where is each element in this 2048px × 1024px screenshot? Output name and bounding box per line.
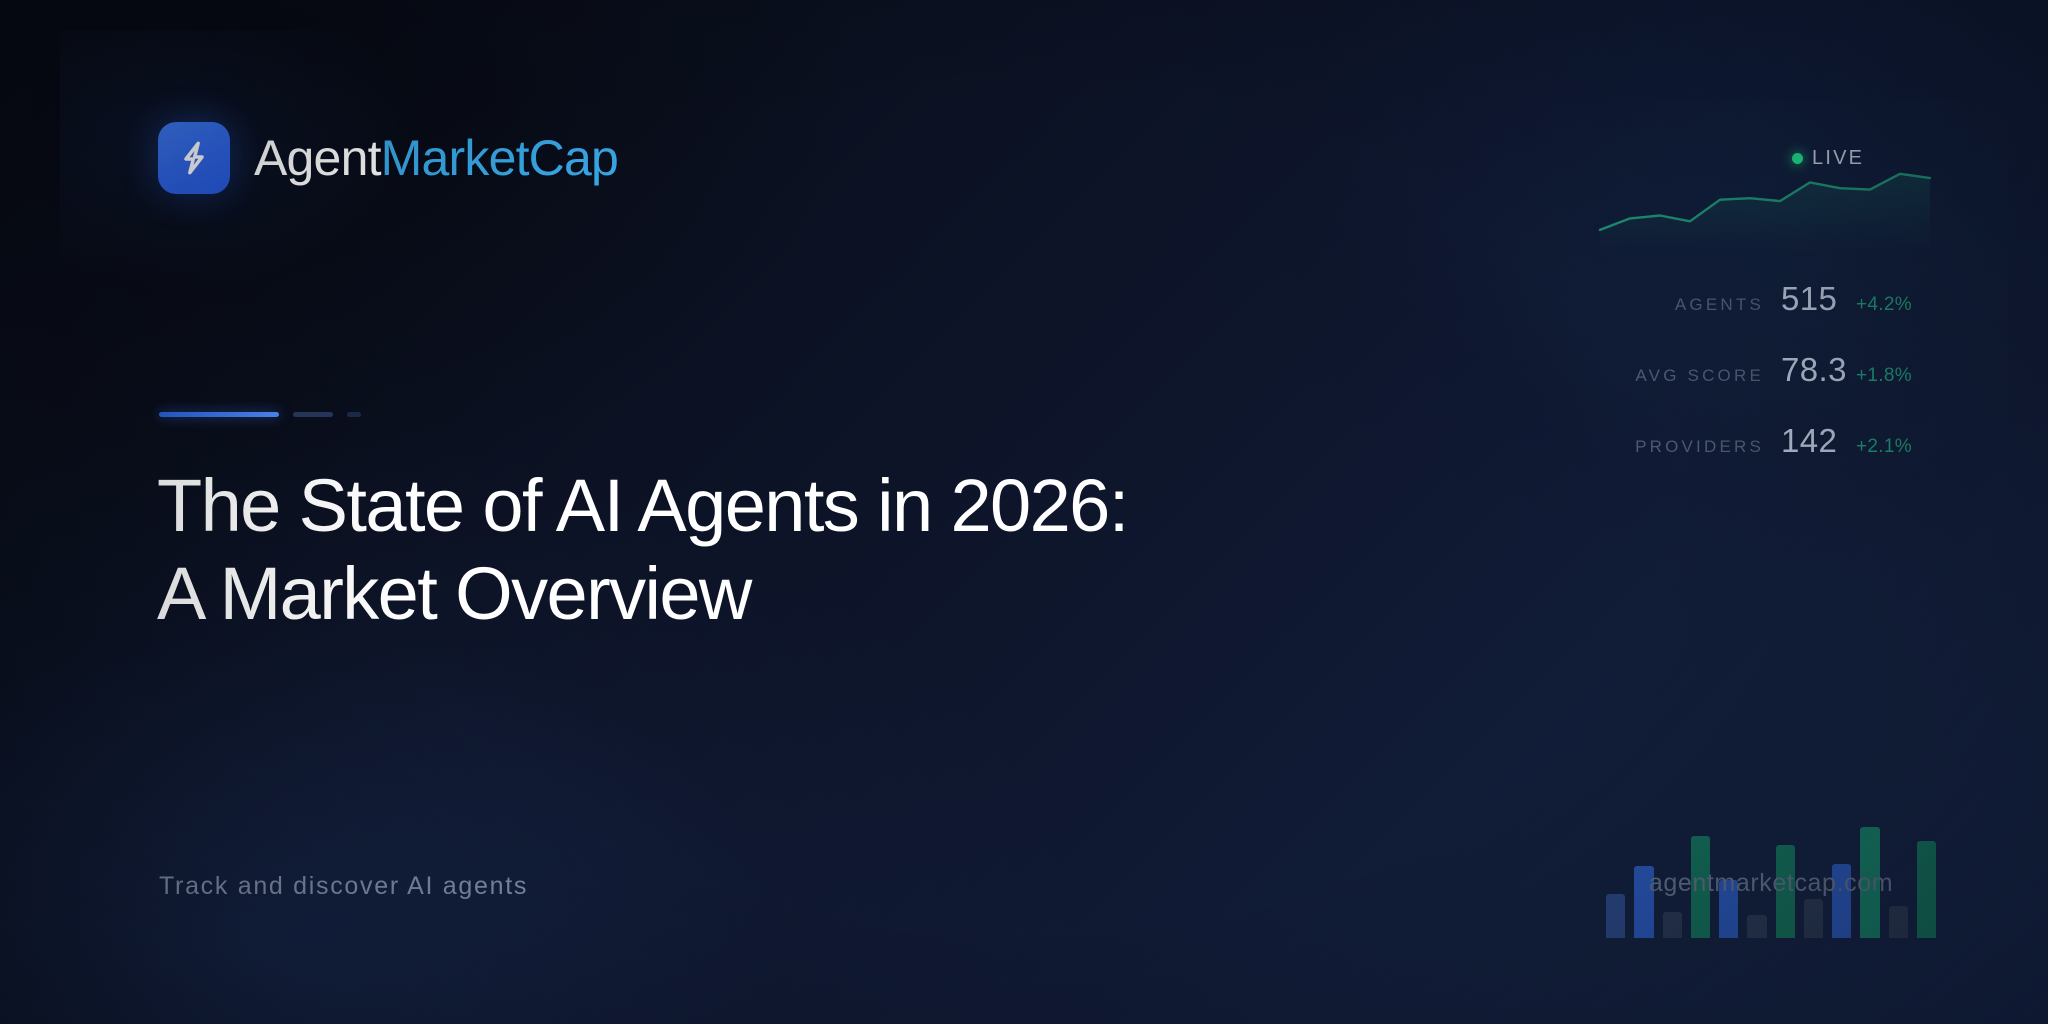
decorative-bar: [1606, 894, 1625, 938]
live-status-badge: LIVE: [1792, 148, 1864, 168]
sparkline-chart: LIVE: [1596, 140, 1936, 252]
brand-name-secondary: MarketCap: [381, 130, 618, 186]
stat-row-providers: PROVIDERS 142 +2.1%: [1596, 422, 1936, 493]
accent-dashes: [159, 412, 361, 417]
stat-change-agents: +4.2%: [1856, 294, 1912, 316]
accent-dash-tertiary: [347, 412, 361, 417]
brand-name-primary: Agent: [254, 130, 381, 186]
decorative-bar: [1804, 899, 1823, 938]
decorative-bar: [1663, 912, 1682, 938]
brand-lockup[interactable]: AgentMarketCap: [158, 122, 618, 194]
site-url: agentmarketcap.com: [1606, 869, 1936, 898]
tagline: Track and discover AI agents: [159, 872, 528, 901]
stat-label-agents: AGENTS: [1596, 295, 1764, 315]
sparkline-svg: [1596, 140, 1936, 252]
lightning-bolt-icon: [158, 122, 230, 194]
stat-change-avg-score: +1.8%: [1856, 365, 1912, 387]
decorative-bar: [1747, 915, 1766, 938]
brand-name: AgentMarketCap: [254, 133, 618, 183]
stat-row-avg-score: AVG SCORE 78.3 +1.8%: [1596, 351, 1936, 422]
stats-panel: LIVE AGENTS 515 +4.2% AVG SCORE 78.3 +1.…: [1596, 140, 1936, 493]
decorative-bar: [1889, 906, 1908, 938]
page-title-line-1: The State of AI Agents in 2026:: [157, 462, 1457, 550]
stat-change-providers: +2.1%: [1856, 436, 1912, 458]
stat-value-avg-score: 78.3: [1764, 351, 1856, 389]
accent-dash-primary: [159, 412, 279, 417]
stat-value-agents: 515: [1764, 280, 1856, 318]
live-indicator-dot: [1792, 153, 1803, 164]
page-title: The State of AI Agents in 2026: A Market…: [157, 462, 1457, 638]
stat-label-providers: PROVIDERS: [1596, 437, 1764, 457]
live-label: LIVE: [1812, 148, 1864, 168]
stat-value-providers: 142: [1764, 422, 1856, 460]
stat-row-agents: AGENTS 515 +4.2%: [1596, 280, 1936, 351]
hero-banner: AgentMarketCap The State of AI Agents in…: [0, 0, 2048, 1024]
stat-label-avg-score: AVG SCORE: [1596, 366, 1764, 386]
stat-list: AGENTS 515 +4.2% AVG SCORE 78.3 +1.8% PR…: [1596, 280, 1936, 493]
footer-right: agentmarketcap.com: [1606, 818, 1936, 938]
page-title-line-2: A Market Overview: [157, 550, 1457, 638]
accent-dash-secondary: [293, 412, 333, 417]
